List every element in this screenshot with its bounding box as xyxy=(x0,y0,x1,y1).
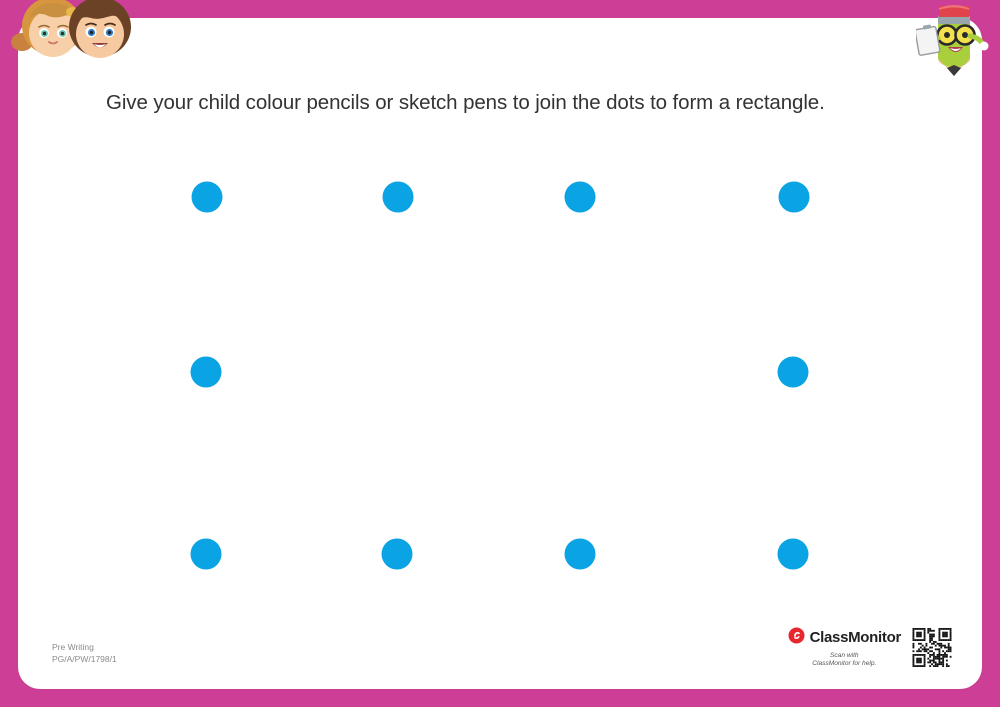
dot-bottom-2[interactable] xyxy=(382,539,413,570)
dot-bottom-1[interactable] xyxy=(191,539,222,570)
brand-block: ClassMonitor Scan with ClassMonitor for … xyxy=(788,627,952,669)
brand-logo-row: ClassMonitor xyxy=(788,627,901,649)
dot-middle-left[interactable] xyxy=(191,357,222,388)
brand-tagline-line1: Scan with xyxy=(812,652,876,661)
dot-bottom-4[interactable] xyxy=(778,539,809,570)
classmonitor-logo-icon xyxy=(788,627,805,649)
dot-top-2[interactable] xyxy=(383,182,414,213)
brand-name: ClassMonitor xyxy=(810,629,901,646)
pencil-character-icon xyxy=(916,2,992,82)
dot-top-3[interactable] xyxy=(565,182,596,213)
qr-code[interactable] xyxy=(912,628,952,667)
dot-grid xyxy=(18,18,982,689)
footer-category: Pre Writing xyxy=(52,642,117,654)
dot-middle-right[interactable] xyxy=(778,357,809,388)
dot-top-4[interactable] xyxy=(779,182,810,213)
worksheet-page: Give your child colour pencils or sketch… xyxy=(0,0,1000,707)
footer-meta: Pre Writing PG/A/PW/1798/1 xyxy=(52,642,117,665)
brand-tagline-line2: ClassMonitor for help. xyxy=(812,660,876,669)
instruction-text: Give your child colour pencils or sketch… xyxy=(106,88,926,118)
dot-top-1[interactable] xyxy=(192,182,223,213)
footer-code: PG/A/PW/1798/1 xyxy=(52,654,117,666)
brand-tagline: Scan with ClassMonitor for help. xyxy=(812,652,876,669)
worksheet-card: Give your child colour pencils or sketch… xyxy=(18,18,982,689)
dot-bottom-3[interactable] xyxy=(565,539,596,570)
kids-faces-icon xyxy=(8,0,136,62)
brand-text-wrap: ClassMonitor Scan with ClassMonitor for … xyxy=(788,627,901,669)
